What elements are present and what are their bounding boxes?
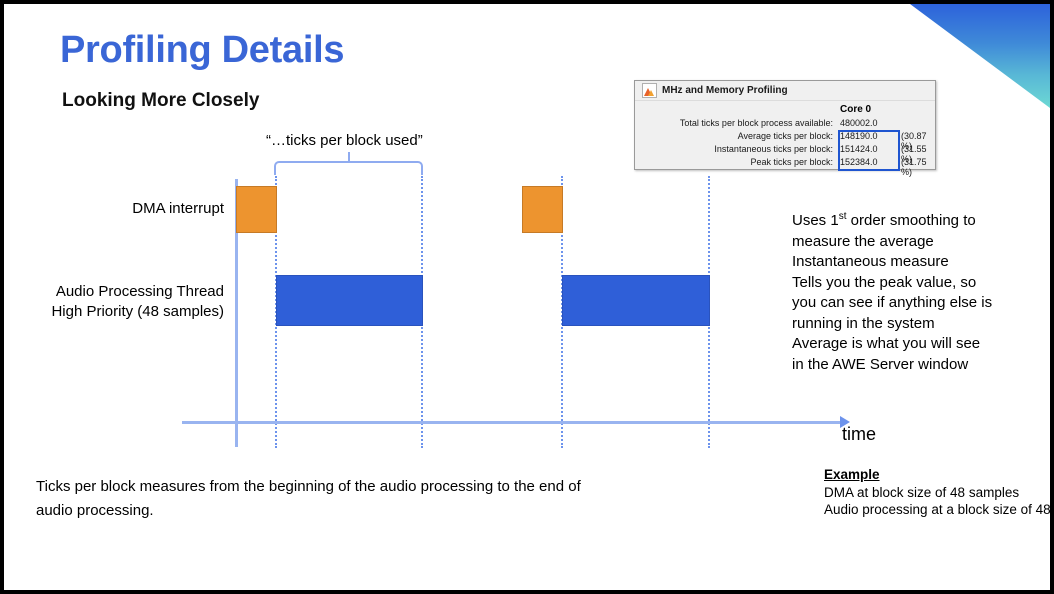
bracket-caption: “…ticks per block used” (266, 132, 423, 149)
note-line-7: Average is what you will see (792, 334, 1040, 355)
row-label: Peak ticks per block: (635, 157, 833, 167)
row-value: 151424.0 (840, 144, 898, 154)
example-line-1: DMA at block size of 48 samples (824, 484, 1050, 502)
row-label-audio-thread: Audio Processing Thread High Priority (4… (24, 282, 224, 322)
row-label: Total ticks per block process available: (635, 118, 833, 128)
note-line-6: running in the system (792, 314, 1040, 335)
bar-dma-interrupt-1 (236, 186, 277, 233)
page-subtitle: Looking More Closely (62, 90, 259, 112)
row-label-audio-line1: Audio Processing Thread (56, 283, 224, 300)
bracket-span (274, 161, 423, 175)
bar-audio-thread-1 (276, 275, 423, 326)
table-row: Instantaneous ticks per block: 151424.0 … (635, 144, 935, 157)
table-row: Peak ticks per block: 152384.0 (31.75 %) (635, 157, 935, 170)
row-value: 152384.0 (840, 157, 898, 167)
window-titlebar: MHz and Memory Profiling (635, 81, 935, 101)
mhz-memory-profiling-window[interactable]: MHz and Memory Profiling Core 0 Total ti… (634, 80, 936, 170)
note-line-8: in the AWE Server window (792, 355, 1040, 376)
example-line-2: Audio processing at a block size of 48 (824, 501, 1050, 519)
table-row: Total ticks per block process available:… (635, 118, 935, 131)
note-line-2: measure the average (792, 232, 1040, 253)
slide-canvas: Profiling Details Looking More Closely “… (4, 4, 1050, 590)
notes-block: Uses 1st order smoothing to measure the … (792, 207, 1040, 375)
window-body: Core 0 Total ticks per block process ava… (635, 101, 935, 169)
row-value: 148190.0 (840, 131, 898, 141)
x-axis-line (182, 421, 842, 424)
bar-dma-interrupt-2 (522, 186, 563, 233)
window-title-text: MHz and Memory Profiling (662, 85, 788, 96)
matlab-icon-peak-right (648, 90, 654, 96)
x-axis-label-time: time (842, 424, 876, 445)
note-line-5: you can see if anything else is (792, 293, 1040, 314)
row-value: 480002.0 (840, 118, 898, 128)
example-block: Example DMA at block size of 48 samples … (824, 466, 1050, 519)
column-header-core0: Core 0 (840, 104, 871, 115)
page-title: Profiling Details (60, 29, 344, 72)
table-row: Average ticks per block: 148190.0 (30.87… (635, 131, 935, 144)
note-line-4: Tells you the peak value, so (792, 273, 1040, 294)
matlab-app-icon (642, 83, 657, 98)
example-heading: Example (824, 466, 1050, 484)
row-label-dma-interrupt: DMA interrupt (24, 199, 224, 219)
row-label: Instantaneous ticks per block: (635, 144, 833, 154)
note-line-3: Instantaneous measure (792, 252, 1040, 273)
footnote-ticks-per-block: Ticks per block measures from the beginn… (36, 475, 581, 523)
row-percent: (31.75 %) (901, 157, 935, 177)
row-label: Average ticks per block: (635, 131, 833, 141)
bar-audio-thread-2 (562, 275, 710, 326)
note-line-1: Uses 1st order smoothing to (792, 207, 1040, 232)
row-label-audio-line2: High Priority (48 samples) (51, 303, 224, 320)
